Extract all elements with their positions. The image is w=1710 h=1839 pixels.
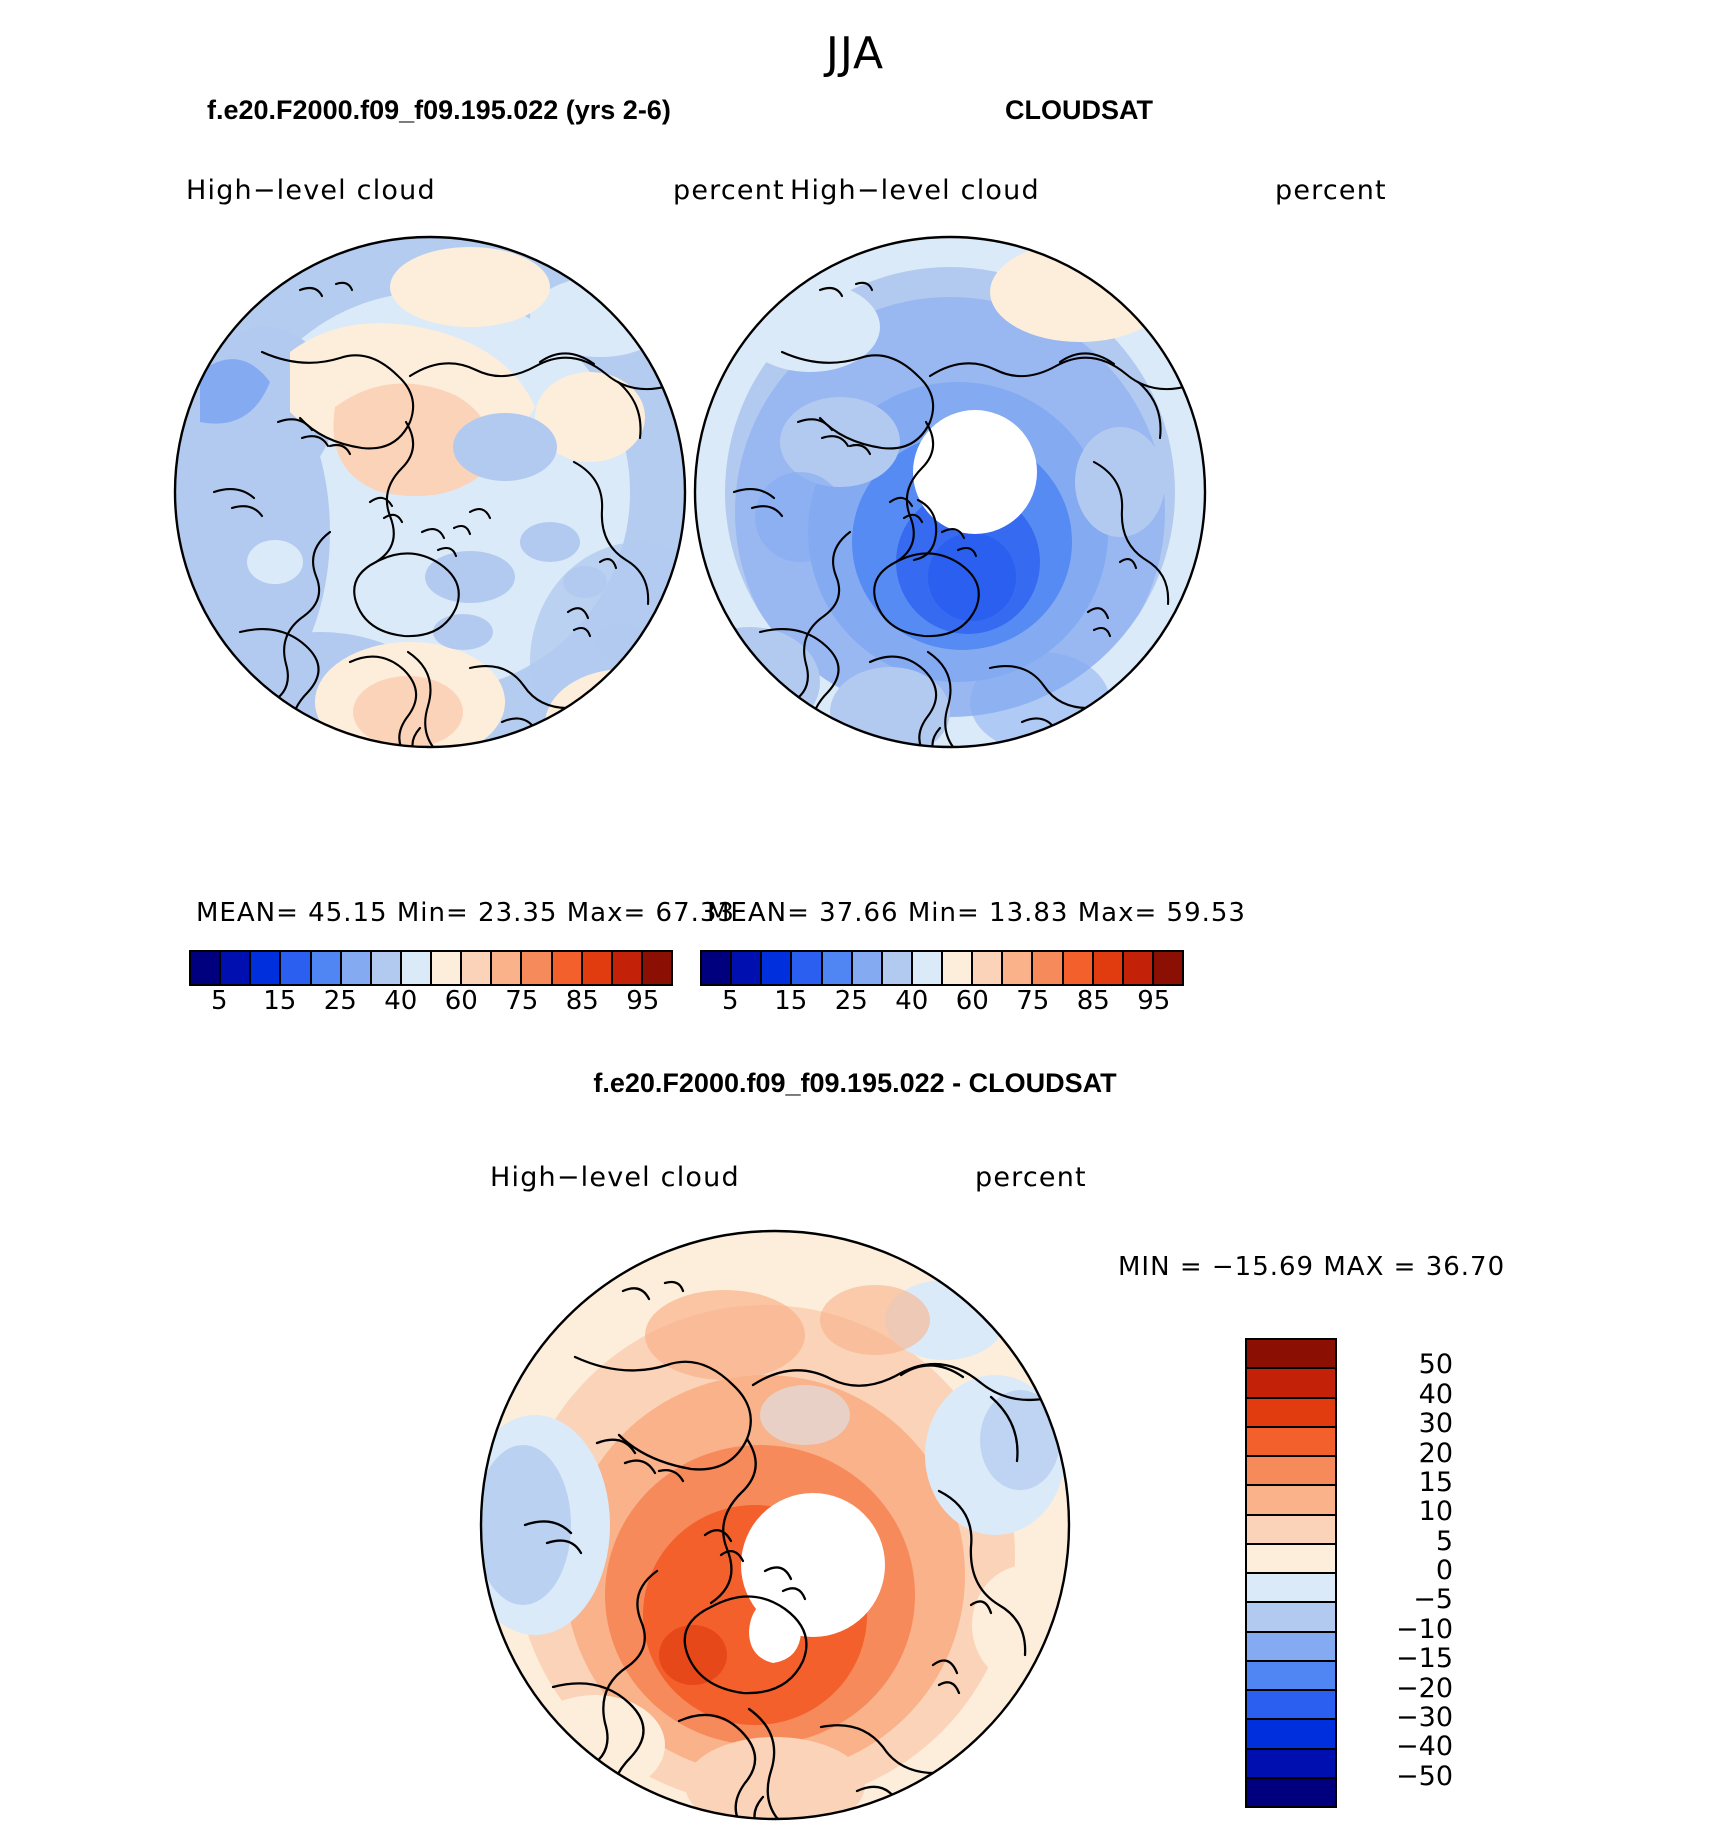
obs-colorbar-swatch [792, 952, 822, 984]
model-colorbar-swatch [522, 952, 552, 984]
difference-colorbar-swatch [1247, 1662, 1335, 1691]
model-colorbar-swatch [191, 952, 221, 984]
model-colorbar-swatch [221, 952, 251, 984]
difference-colorbar-tick-label: −10 [1353, 1614, 1453, 1645]
difference-colorbar-swatch [1247, 1691, 1335, 1720]
difference-colorbar-tick-label: 30 [1353, 1408, 1453, 1439]
difference-colorbar-swatch [1247, 1779, 1335, 1806]
difference-colorbar-tick-label: 0 [1353, 1555, 1453, 1586]
model-colorbar-swatch [372, 952, 402, 984]
difference-colorbar-swatch [1247, 1486, 1335, 1515]
obs-colorbar-swatch [1033, 952, 1063, 984]
model-colorbar-tick-label: 5 [211, 986, 228, 1016]
model-colorbar-swatch [432, 952, 462, 984]
model-colorbar-swatch [312, 952, 342, 984]
obs-stats: MEAN= 37.66 Min= 13.83 Max= 59.53 [707, 898, 1246, 928]
difference-colorbar-swatch [1247, 1399, 1335, 1428]
difference-colorbar-tick-label: 10 [1353, 1496, 1453, 1527]
difference-stats: MIN = −15.69 MAX = 36.70 [1118, 1252, 1505, 1282]
model-colorbar-swatch [643, 952, 671, 984]
obs-colorbar-swatch [823, 952, 853, 984]
obs-map-svg [690, 232, 1210, 752]
model-colorbar-tick-label: 95 [626, 986, 659, 1016]
obs-colorbar-swatch [732, 952, 762, 984]
obs-colorbar-swatch [762, 952, 792, 984]
difference-colorbar-swatch [1247, 1428, 1335, 1457]
difference-colorbar-tick-label: 5 [1353, 1526, 1453, 1557]
obs-colorbar-swatch [1003, 952, 1033, 984]
obs-colorbar-swatch [853, 952, 883, 984]
difference-colorbar-tick-label: −30 [1353, 1702, 1453, 1733]
obs-colorbar-swatch [883, 952, 913, 984]
model-colorbar-swatches [189, 950, 673, 986]
obs-colorbar-tick-label: 60 [956, 986, 989, 1016]
season-title: JJA [0, 28, 1710, 79]
obs-colorbar-tick-label: 40 [895, 986, 928, 1016]
obs-colorbar: 515254060758595 [700, 950, 1184, 1020]
model-colorbar-swatch [462, 952, 492, 984]
difference-variable-label: High−level cloud [490, 1162, 740, 1193]
difference-colorbar: 50403020151050−5−10−15−20−30−40−50 [1245, 1338, 1465, 1808]
difference-colorbar-swatch [1247, 1603, 1335, 1632]
obs-colorbar-ticks: 515254060758595 [700, 986, 1184, 1020]
model-colorbar-swatch [251, 952, 281, 984]
obs-colorbar-tick-label: 5 [722, 986, 739, 1016]
obs-panel-title: CLOUDSAT [1005, 95, 1153, 126]
difference-colorbar-swatch [1247, 1750, 1335, 1779]
model-colorbar: 515254060758595 [189, 950, 673, 1020]
obs-colorbar-swatch [1154, 952, 1182, 984]
difference-colorbar-swatch [1247, 1516, 1335, 1545]
model-colorbar-tick-label: 85 [566, 986, 599, 1016]
difference-colorbar-tick-label: −20 [1353, 1673, 1453, 1704]
difference-polar-map [475, 1225, 1075, 1825]
difference-colorbar-swatch [1247, 1457, 1335, 1486]
obs-colorbar-swatch [943, 952, 973, 984]
obs-colorbar-swatch [913, 952, 943, 984]
difference-map-svg [475, 1225, 1075, 1825]
difference-colorbar-tick-label: −40 [1353, 1731, 1453, 1762]
model-colorbar-tick-label: 40 [384, 986, 417, 1016]
difference-colorbar-swatch [1247, 1545, 1335, 1574]
obs-pole-data-gap [913, 410, 1037, 534]
difference-units-label: percent [975, 1162, 1087, 1193]
obs-polar-map [690, 232, 1210, 752]
obs-colorbar-tick-label: 25 [835, 986, 868, 1016]
obs-colorbar-tick-label: 95 [1137, 986, 1170, 1016]
model-contour-field [170, 232, 690, 752]
difference-colorbar-tick-label: −15 [1353, 1643, 1453, 1674]
obs-colorbar-tick-label: 15 [774, 986, 807, 1016]
difference-colorbar-tick-label: −50 [1353, 1761, 1453, 1792]
difference-colorbar-tick-label: 40 [1353, 1379, 1453, 1410]
obs-colorbar-swatch [973, 952, 1003, 984]
model-colorbar-swatch [281, 952, 311, 984]
model-colorbar-tick-label: 60 [445, 986, 478, 1016]
difference-colorbar-swatch [1247, 1720, 1335, 1749]
obs-colorbar-swatch [1064, 952, 1094, 984]
difference-colorbar-swatch [1247, 1340, 1335, 1369]
difference-colorbar-swatches [1245, 1338, 1337, 1808]
difference-colorbar-ticks: 50403020151050−5−10−15−20−30−40−50 [1353, 1338, 1463, 1808]
obs-colorbar-tick-label: 85 [1077, 986, 1110, 1016]
model-variable-label: High−level cloud [186, 175, 436, 206]
model-colorbar-swatch [492, 952, 522, 984]
obs-colorbar-tick-label: 75 [1016, 986, 1049, 1016]
obs-colorbar-swatches [700, 950, 1184, 986]
model-units-label: percent [673, 175, 785, 206]
difference-colorbar-tick-label: −5 [1353, 1584, 1453, 1615]
difference-colorbar-swatch [1247, 1633, 1335, 1662]
difference-colorbar-swatch [1247, 1369, 1335, 1398]
difference-colorbar-swatch [1247, 1574, 1335, 1603]
difference-colorbar-tick-label: 15 [1353, 1467, 1453, 1498]
model-colorbar-swatch [583, 952, 613, 984]
obs-colorbar-swatch [702, 952, 732, 984]
model-polar-map [170, 232, 690, 752]
difference-colorbar-tick-label: 20 [1353, 1438, 1453, 1469]
model-colorbar-swatch [613, 952, 643, 984]
obs-colorbar-swatch [1124, 952, 1154, 984]
model-colorbar-tick-label: 75 [505, 986, 538, 1016]
difference-panel-title: f.e20.F2000.f09_f09.195.022 - CLOUDSAT [0, 1068, 1710, 1099]
obs-colorbar-swatch [1094, 952, 1124, 984]
obs-variable-label: High−level cloud [790, 175, 1040, 206]
model-map-svg [170, 232, 690, 752]
model-colorbar-swatch [402, 952, 432, 984]
model-stats: MEAN= 45.15 Min= 23.35 Max= 67.33 [196, 898, 735, 928]
model-colorbar-swatch [342, 952, 372, 984]
model-panel-title: f.e20.F2000.f09_f09.195.022 (yrs 2-6) [207, 95, 671, 126]
model-colorbar-tick-label: 25 [324, 986, 357, 1016]
difference-colorbar-tick-label: 50 [1353, 1349, 1453, 1380]
model-colorbar-tick-label: 15 [263, 986, 296, 1016]
model-colorbar-swatch [553, 952, 583, 984]
obs-units-label: percent [1275, 175, 1387, 206]
model-colorbar-ticks: 515254060758595 [189, 986, 673, 1020]
